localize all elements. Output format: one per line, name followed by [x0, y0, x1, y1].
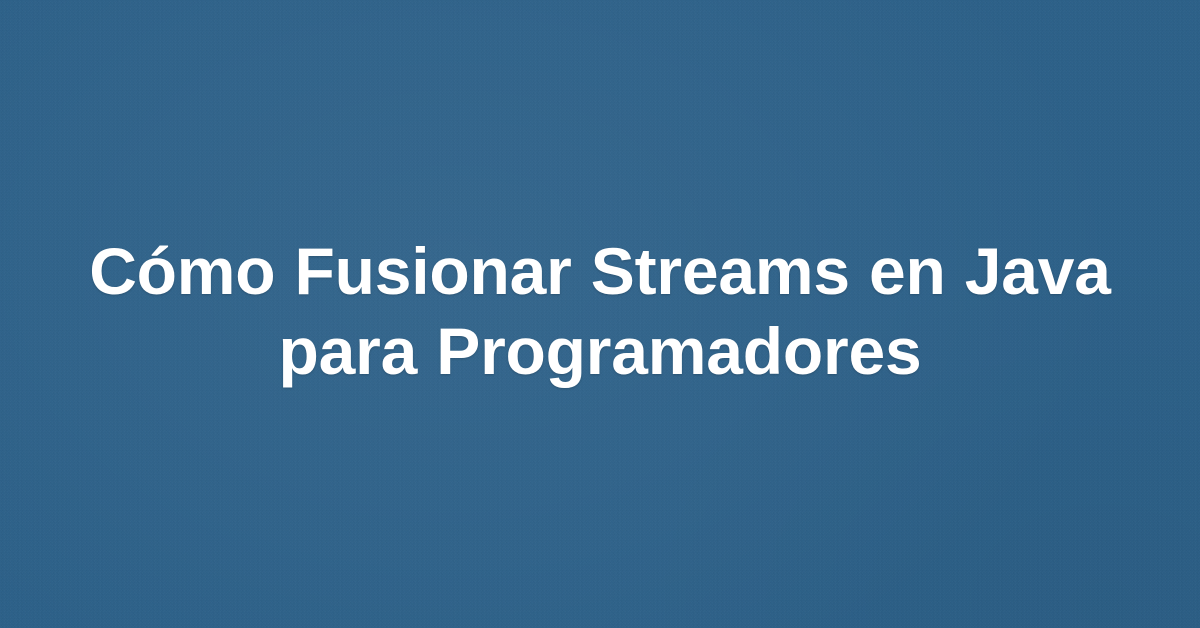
title-block: Cómo Fusionar Streams en Java para Progr…	[40, 231, 1160, 397]
og-social-card: Cómo Fusionar Streams en Java para Progr…	[0, 0, 1200, 628]
page-title-line-2: para Programadores	[40, 311, 1160, 391]
page-title-line-1: Cómo Fusionar Streams en Java	[40, 231, 1160, 311]
page-title: Cómo Fusionar Streams en Java para Progr…	[40, 231, 1160, 391]
